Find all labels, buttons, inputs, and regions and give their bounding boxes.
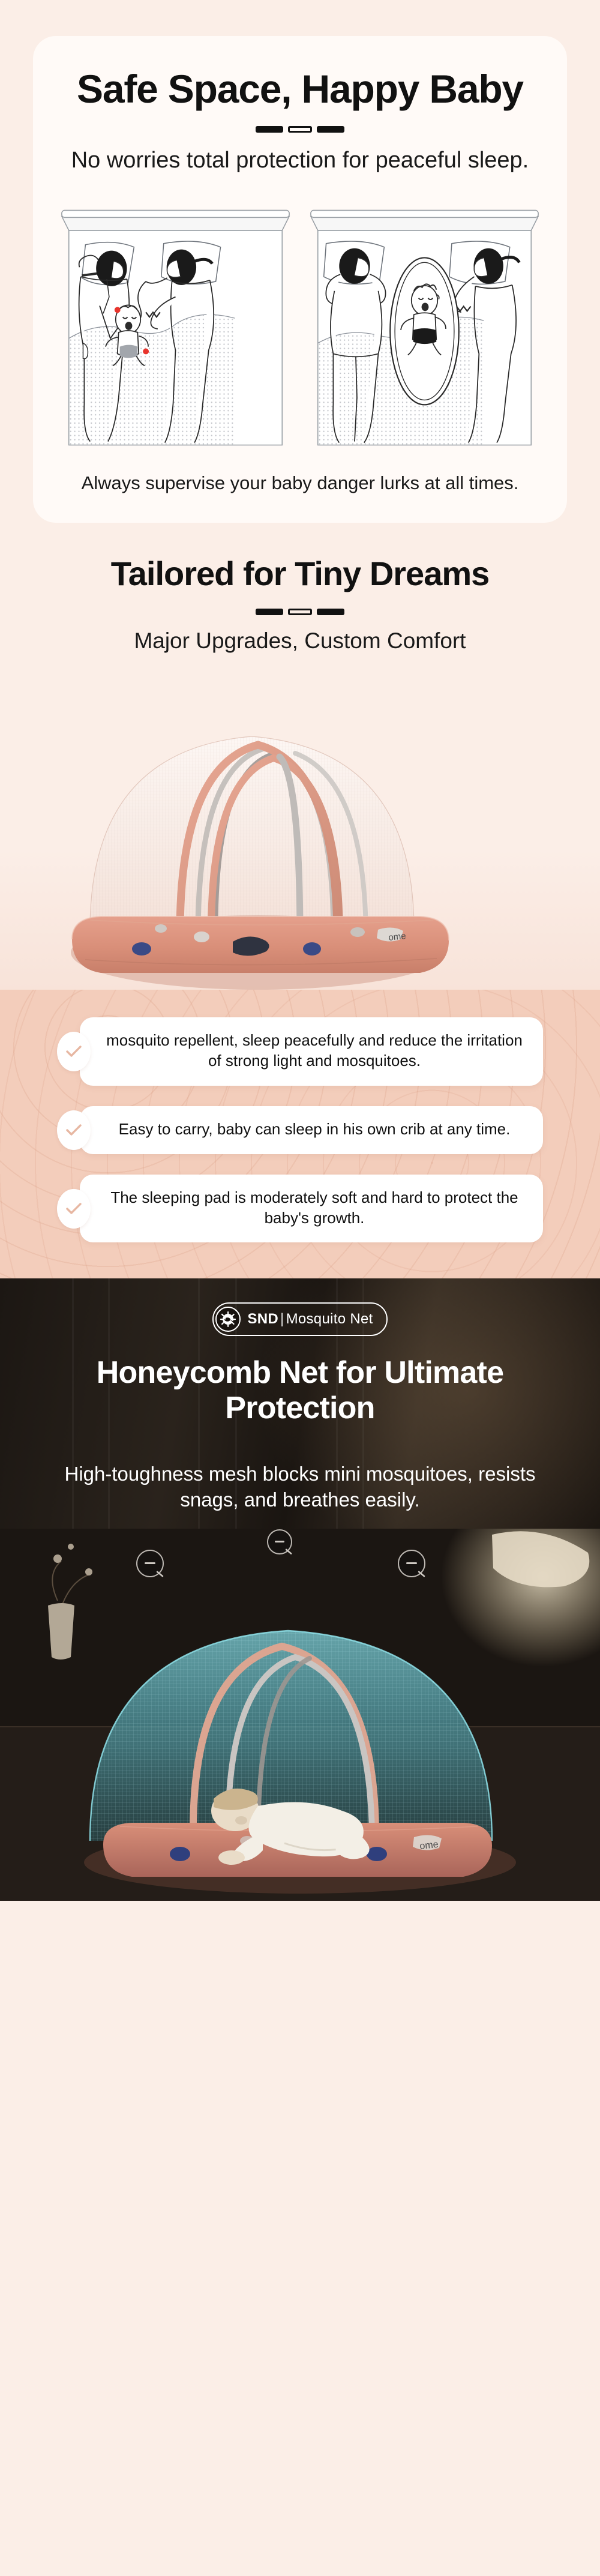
- safety-caption: Always supervise your baby danger lurks …: [57, 471, 543, 496]
- brand-label: SND|Mosquito Net: [247, 1311, 373, 1328]
- feature-item: Easy to carry, baby can sleep in his own…: [57, 1106, 543, 1154]
- divider-segment-right: [317, 609, 344, 615]
- page-title: Safe Space, Happy Baby: [57, 68, 543, 110]
- tailored-divider: [0, 609, 600, 615]
- divider-segment-left: [256, 609, 283, 615]
- safety-section: Safe Space, Happy Baby No worries total …: [0, 0, 600, 523]
- title-divider: [57, 126, 543, 133]
- baby-under-mosquito-net-in-dark-room-illustration: ome: [0, 1529, 600, 1901]
- brand-name: SND: [247, 1311, 278, 1327]
- check-icon: [57, 1032, 91, 1071]
- divider-segment-middle: [288, 126, 312, 133]
- honeycomb-subheading: High-toughness mesh blocks mini mosquito…: [33, 1461, 567, 1513]
- svg-text:ome: ome: [388, 931, 407, 943]
- brand-product: Mosquito Net: [286, 1311, 373, 1327]
- zoom-callout-right: [398, 1550, 425, 1577]
- zoom-callout-center: [268, 1530, 292, 1554]
- brand-separator: |: [278, 1311, 286, 1327]
- feature-text: mosquito repellent, sleep peacefully and…: [80, 1017, 543, 1086]
- zoom-callout-left: [137, 1550, 164, 1577]
- divider-segment-right: [317, 126, 344, 133]
- brand-badge: SND|Mosquito Net: [212, 1302, 387, 1336]
- divider-segment-middle: [288, 609, 312, 615]
- check-icon: [57, 1110, 91, 1150]
- feature-list: mosquito repellent, sleep peacefully and…: [0, 990, 600, 1278]
- dark-product-scene: ome: [0, 1529, 600, 1901]
- safety-card: Safe Space, Happy Baby No worries total …: [33, 36, 567, 523]
- tailored-heading: Tailored for Tiny Dreams: [0, 554, 600, 593]
- product-hero-image: ome: [0, 678, 600, 990]
- svg-text:ome: ome: [419, 1840, 439, 1852]
- honeycomb-net-section: SND|Mosquito Net Honeycomb Net for Ultim…: [0, 1278, 600, 1901]
- parents-sleeping-with-baby-unsafe-illustration: [57, 200, 294, 453]
- feature-item: mosquito repellent, sleep peacefully and…: [57, 1017, 543, 1086]
- honeycomb-heading: Honeycomb Net for Ultimate Protection: [36, 1355, 564, 1425]
- feature-item: The sleeping pad is moderately soft and …: [57, 1175, 543, 1243]
- tailored-subheading: Major Upgrades, Custom Comfort: [0, 628, 600, 654]
- infographic-page: Safe Space, Happy Baby No worries total …: [0, 0, 600, 1901]
- divider-segment-left: [256, 126, 283, 133]
- tailored-section: Tailored for Tiny Dreams Major Upgrades,…: [0, 523, 600, 1278]
- feature-text: The sleeping pad is moderately soft and …: [80, 1175, 543, 1243]
- check-icon: [57, 1189, 91, 1229]
- pink-baby-mosquito-net-crib-illustration: ome: [0, 678, 600, 990]
- safety-illustration-group: [57, 200, 543, 453]
- baby-in-own-bassinet-safe-illustration: [306, 200, 543, 453]
- mosquito-gear-icon: [215, 1307, 241, 1332]
- feature-text: Easy to carry, baby can sleep in his own…: [80, 1106, 543, 1154]
- safety-subheading: No worries total protection for peaceful…: [57, 146, 543, 175]
